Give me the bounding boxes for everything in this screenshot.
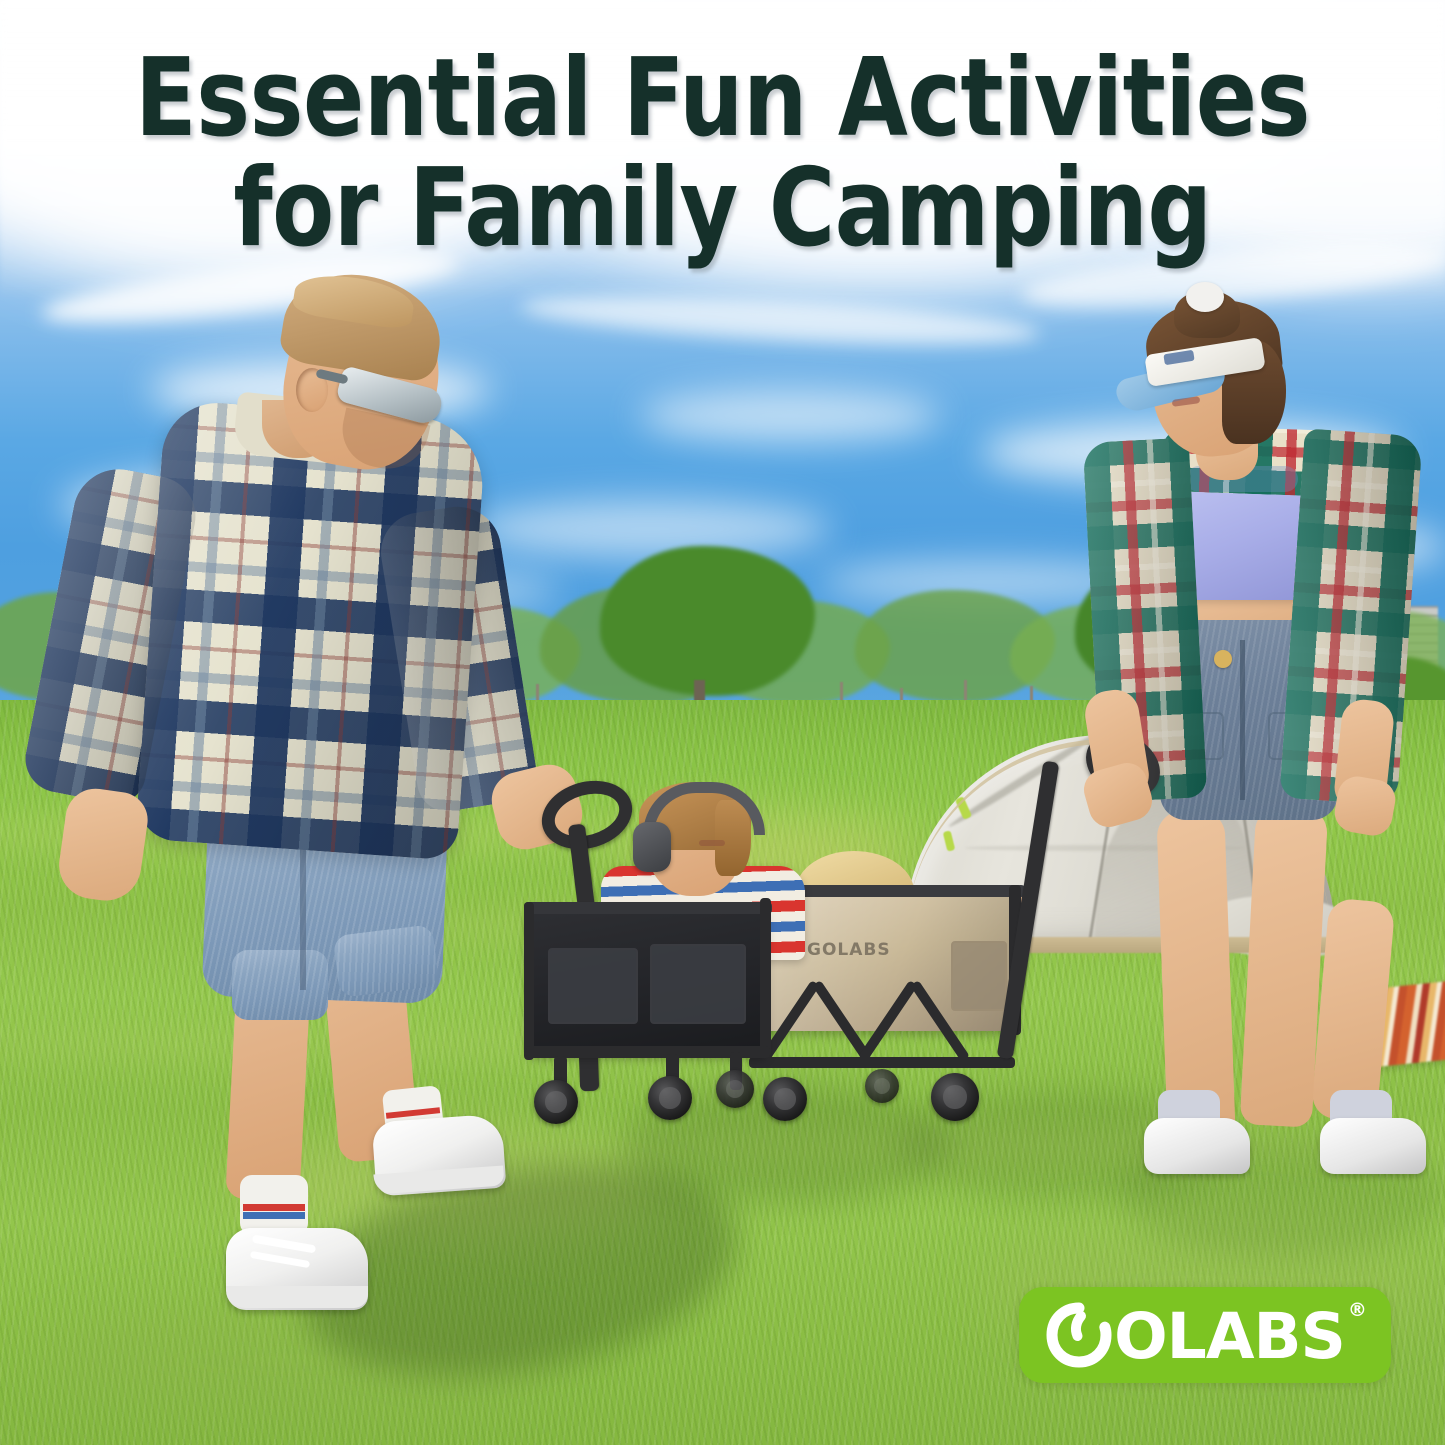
wagon-wheel xyxy=(534,1080,578,1124)
golabs-g-mark-icon xyxy=(1046,1302,1112,1368)
wagon-wheel xyxy=(716,1070,754,1108)
black-folding-wagon xyxy=(520,780,830,1130)
sneaker xyxy=(1320,1118,1426,1174)
mesh-pocket xyxy=(548,948,638,1024)
marketing-banner-canvas: GOLABS xyxy=(0,0,1445,1445)
scrunchie xyxy=(1186,282,1224,312)
mesh-pocket xyxy=(650,944,746,1024)
shorts-button xyxy=(1214,650,1232,668)
mesh-pocket xyxy=(951,941,1007,1011)
wagon-wheel xyxy=(648,1076,692,1120)
sneaker xyxy=(1144,1118,1250,1174)
wagon-wheel xyxy=(931,1073,979,1121)
cloud-wisp xyxy=(640,390,940,442)
registered-trademark-icon: ® xyxy=(1348,1299,1367,1321)
logo-wordmark: OLABS xyxy=(1114,1305,1345,1368)
wagon-wheel xyxy=(865,1069,899,1103)
cloud-wisp xyxy=(470,500,830,558)
golabs-logo-badge[interactable]: OLABS ® xyxy=(1019,1287,1391,1383)
